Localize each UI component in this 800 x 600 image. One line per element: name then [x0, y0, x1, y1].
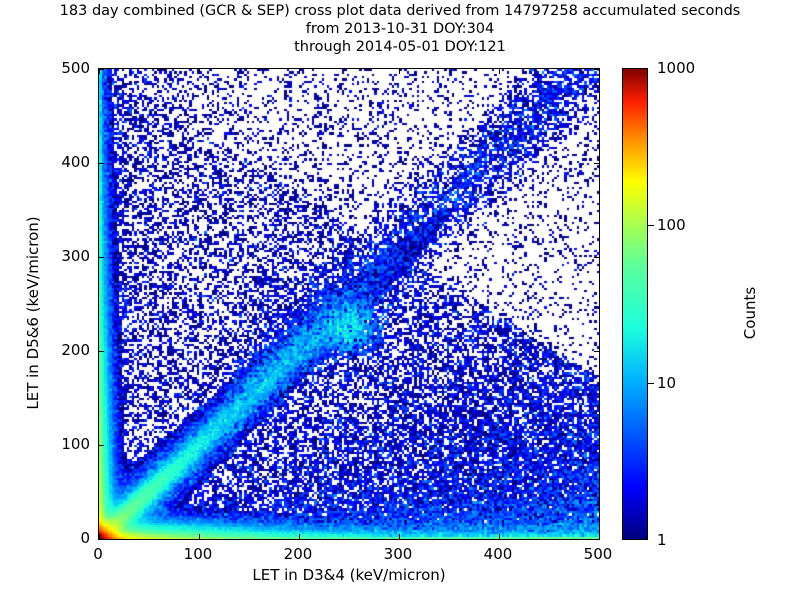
title-line-2: from 2013-10-31 DOY:304 [0, 20, 800, 38]
y-tick [99, 539, 104, 540]
density-scatter-canvas [99, 69, 599, 539]
x-tick [599, 69, 600, 74]
x-ticklabel: 200 [268, 545, 328, 563]
x-ticklabel: 300 [368, 545, 428, 563]
y-axis-label: LET in D5&6 (keV/micron) [24, 163, 42, 463]
y-tick [99, 257, 104, 258]
x-ticklabel: 0 [68, 545, 128, 563]
colorbar-label: Counts [741, 163, 759, 463]
x-tick [299, 534, 300, 539]
colorbar [622, 68, 648, 540]
chart-title: 183 day combined (GCR & SEP) cross plot … [0, 2, 800, 56]
x-ticklabel: 500 [568, 545, 628, 563]
colorbar-gradient [622, 68, 648, 540]
x-tick [599, 534, 600, 539]
y-tick [99, 351, 104, 352]
y-tick [594, 351, 599, 352]
x-tick [199, 534, 200, 539]
x-tick [399, 69, 400, 74]
x-tick [199, 69, 200, 74]
colorbar-ticklabel: 1000 [657, 59, 695, 77]
x-axis-label: LET in D3&4 (keV/micron) [98, 566, 600, 584]
colorbar-ticklabel: 10 [657, 374, 676, 392]
y-tick [594, 257, 599, 258]
y-tick [99, 163, 104, 164]
y-tick [594, 69, 599, 70]
x-tick [499, 69, 500, 74]
y-ticklabel: 500 [30, 59, 90, 77]
colorbar-ticklabel: 1 [657, 531, 667, 549]
y-tick [594, 539, 599, 540]
x-tick [499, 534, 500, 539]
y-ticklabel: 0 [30, 529, 90, 547]
x-tick [299, 69, 300, 74]
x-tick [399, 534, 400, 539]
plot-page: 183 day combined (GCR & SEP) cross plot … [0, 0, 800, 600]
title-line-1: 183 day combined (GCR & SEP) cross plot … [0, 2, 800, 20]
colorbar-tick [648, 383, 654, 384]
title-line-3: through 2014-05-01 DOY:121 [0, 38, 800, 56]
colorbar-ticklabel: 100 [657, 216, 686, 234]
x-ticklabel: 100 [168, 545, 228, 563]
x-ticklabel: 400 [468, 545, 528, 563]
y-tick [594, 445, 599, 446]
y-tick [99, 445, 104, 446]
y-tick [99, 69, 104, 70]
y-tick [594, 163, 599, 164]
colorbar-tick [648, 225, 654, 226]
plot-area [98, 68, 600, 540]
